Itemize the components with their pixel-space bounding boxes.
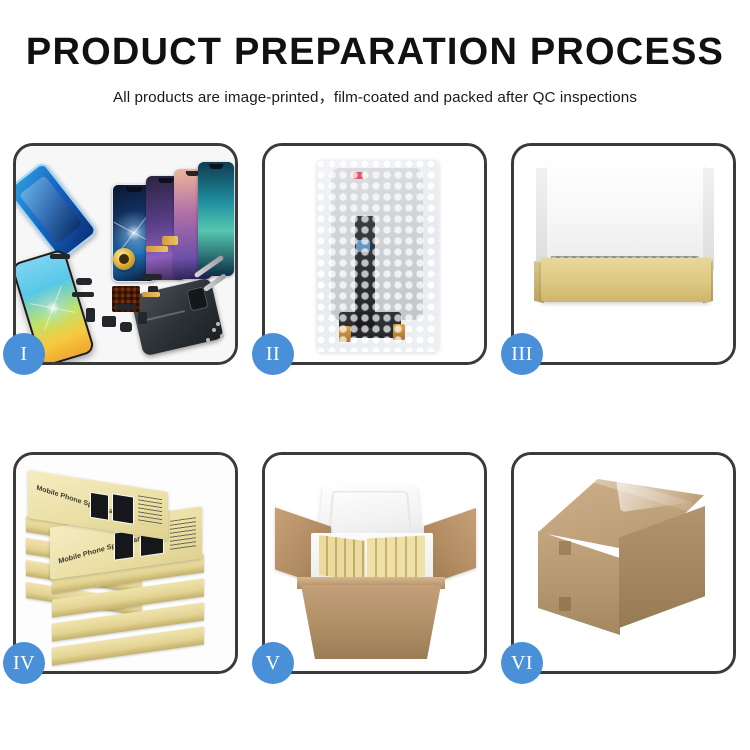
step-panel-3: III — [511, 143, 736, 365]
gold-connector — [393, 324, 405, 340]
packed-boxes-right — [367, 535, 425, 579]
process-steps-grid: I II III — [13, 143, 737, 674]
notch-icon — [209, 164, 223, 169]
step-badge-4: IV — [3, 642, 45, 684]
step-badge-2: II — [252, 333, 294, 375]
step-image-6 — [514, 455, 733, 671]
red-label-tab — [353, 172, 363, 179]
kraft-tray-base — [541, 258, 711, 302]
foam-sheet — [552, 198, 698, 256]
screw-part — [220, 334, 224, 338]
page-title: PRODUCT PREPARATION PROCESS — [0, 33, 750, 71]
step-panel-1: I — [13, 143, 238, 365]
gold-flex-cable — [142, 292, 160, 297]
antenna-part — [142, 274, 162, 280]
tilted-blue-phone — [16, 161, 99, 261]
lcd-screen — [331, 168, 423, 320]
step-image-3 — [514, 146, 733, 362]
step-badge-5: V — [252, 642, 294, 684]
box-spec-lines — [170, 517, 196, 551]
flex-cable-part — [76, 278, 92, 285]
step-image-2 — [265, 146, 484, 362]
step-image-4: Mobile Phone Spare Parts Mobile Phone Sp… — [16, 455, 235, 671]
speaker-coil-part — [113, 248, 135, 270]
connector-part — [50, 254, 70, 259]
box-window-left — [114, 530, 134, 561]
step-image-5 — [265, 455, 484, 671]
step-badge-6: VI — [501, 642, 543, 684]
retail-box-stack: Mobile Phone Spare Parts Mobile Phone Sp… — [16, 455, 235, 671]
box-window-left — [90, 492, 109, 521]
carton-tape-upper — [559, 541, 571, 555]
step-image-1 — [16, 146, 235, 362]
box-label-text: Mobile Phone Spare Parts — [36, 485, 122, 519]
speaker-part — [120, 322, 132, 332]
step-badge-1: I — [3, 333, 45, 375]
screen-crack-overlay — [26, 281, 81, 336]
step-badge-3: III — [501, 333, 543, 375]
page-subtitle: All products are image-printed，film-coat… — [0, 85, 750, 107]
carton-tape-lower — [559, 597, 571, 611]
flex-cable-part — [116, 304, 136, 310]
page-header: PRODUCT PREPARATION PROCESS All products… — [0, 0, 750, 107]
button-part — [86, 308, 95, 322]
bubble-wrap-bag — [317, 160, 439, 352]
box-spec-lines — [138, 495, 162, 527]
carton-left-face — [538, 531, 620, 635]
step-panel-2: II — [262, 143, 487, 365]
screw-part — [212, 328, 216, 332]
gold-flex-cable — [162, 236, 178, 245]
screw-part — [216, 322, 220, 326]
vibrator-part — [138, 312, 147, 324]
step-panel-5: V — [262, 452, 487, 674]
notch-icon — [158, 178, 173, 183]
step-panel-6: VI — [511, 452, 736, 674]
notch-icon — [126, 187, 142, 192]
flex-cable-part — [72, 292, 94, 297]
box-window-right — [112, 493, 134, 524]
gold-connector — [339, 326, 351, 342]
carton-body — [301, 585, 441, 659]
packed-boxes-left — [319, 535, 365, 581]
screw-part — [206, 338, 210, 342]
gold-flex-cable — [146, 246, 168, 252]
camera-module-part — [102, 316, 116, 327]
step-panel-4: Mobile Phone Spare Parts Mobile Phone Sp… — [13, 452, 238, 674]
